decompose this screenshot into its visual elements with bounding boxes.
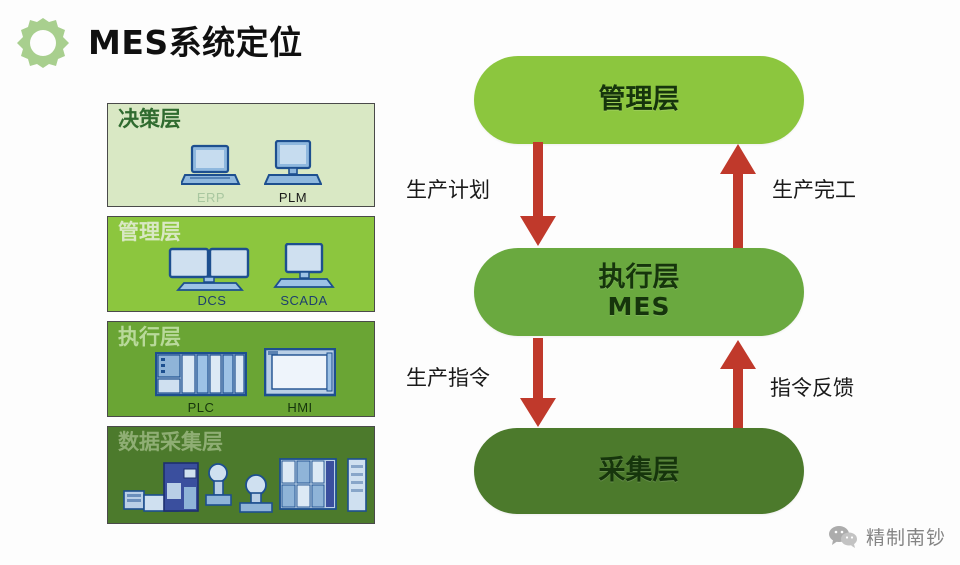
laptop-icon bbox=[181, 144, 241, 188]
flow-arrow-feedback bbox=[716, 338, 760, 435]
layer-box-execution[interactable]: 执行层 PLC bbox=[107, 321, 375, 417]
device-label-erp: ERP bbox=[178, 191, 244, 204]
cabinet-icon bbox=[164, 463, 198, 511]
flow-arrow-label-order: 生产指令 bbox=[406, 368, 490, 389]
device-label-hmi: HMI bbox=[260, 401, 340, 414]
gear-icon bbox=[12, 14, 74, 70]
desktop-icon bbox=[264, 140, 322, 188]
sensor-icon bbox=[240, 475, 272, 512]
flow-arrow-label-plan: 生产计划 bbox=[406, 180, 490, 201]
watermark: 精制南钞 bbox=[828, 524, 946, 553]
flow-arrow-label-complete: 生产完工 bbox=[772, 180, 856, 201]
flow-arrow-order bbox=[516, 338, 560, 435]
device-group-data-acquisition bbox=[108, 426, 374, 521]
device-dcs: DCS bbox=[164, 247, 260, 307]
plc-rack-icon bbox=[155, 352, 247, 398]
slide-canvas: MES系统定位 决策层 ERP bbox=[0, 0, 960, 565]
flow-node-management[interactable]: 管理层 bbox=[474, 56, 804, 144]
device-plm: PLM bbox=[260, 140, 326, 204]
layer-box-decision[interactable]: 决策层 ERP bbox=[107, 103, 375, 207]
flow-node-label-execution-main: 执行层 bbox=[599, 262, 680, 293]
watermark-text: 精制南钞 bbox=[866, 529, 946, 548]
device-hmi: HMI bbox=[260, 348, 340, 414]
page-title: MES系统定位 bbox=[88, 26, 303, 59]
flow-node-label-execution-sub: MES bbox=[599, 293, 680, 321]
flow-node-execution[interactable]: 执行层 MES bbox=[474, 248, 804, 336]
flow-node-label-management: 管理层 bbox=[599, 85, 680, 115]
page-title-bar: MES系统定位 bbox=[12, 14, 303, 70]
field-equipment-icons bbox=[122, 457, 372, 519]
flow-arrow-plan bbox=[516, 142, 560, 255]
flow-diagram: 管理层 执行层 MES 采集层 生产计划 生产完工 bbox=[474, 56, 804, 526]
flow-arrow-complete bbox=[716, 142, 760, 255]
dual-monitor-icon bbox=[166, 247, 258, 291]
flow-node-collection[interactable]: 采集层 bbox=[474, 428, 804, 514]
meter-icon bbox=[348, 459, 366, 511]
device-scada: SCADA bbox=[266, 243, 342, 307]
desktop-icon bbox=[273, 243, 335, 291]
flow-node-label-execution: 执行层 MES bbox=[599, 263, 680, 321]
layer-box-data-acquisition[interactable]: 数据采集层 bbox=[107, 426, 375, 524]
device-label-plc: PLC bbox=[152, 401, 250, 414]
flow-arrow-label-feedback: 指令反馈 bbox=[770, 378, 854, 399]
layer-stack: 决策层 ERP bbox=[107, 103, 375, 533]
device-group-management: DCS SCADA bbox=[108, 216, 374, 309]
flow-node-label-collection: 采集层 bbox=[599, 456, 680, 486]
device-erp: ERP bbox=[178, 144, 244, 204]
io-module-icon bbox=[280, 459, 336, 509]
device-group-decision: ERP PLM bbox=[108, 103, 374, 204]
device-label-plm: PLM bbox=[260, 191, 326, 204]
device-plc: PLC bbox=[152, 352, 250, 414]
device-label-dcs: DCS bbox=[164, 294, 260, 307]
wechat-icon bbox=[828, 524, 858, 553]
layer-box-management[interactable]: 管理层 DCS S bbox=[107, 216, 375, 312]
hmi-panel-icon bbox=[264, 348, 336, 398]
device-label-scada: SCADA bbox=[266, 294, 342, 307]
device-group-execution: PLC HMI bbox=[108, 321, 374, 414]
valve-icon bbox=[206, 464, 231, 505]
